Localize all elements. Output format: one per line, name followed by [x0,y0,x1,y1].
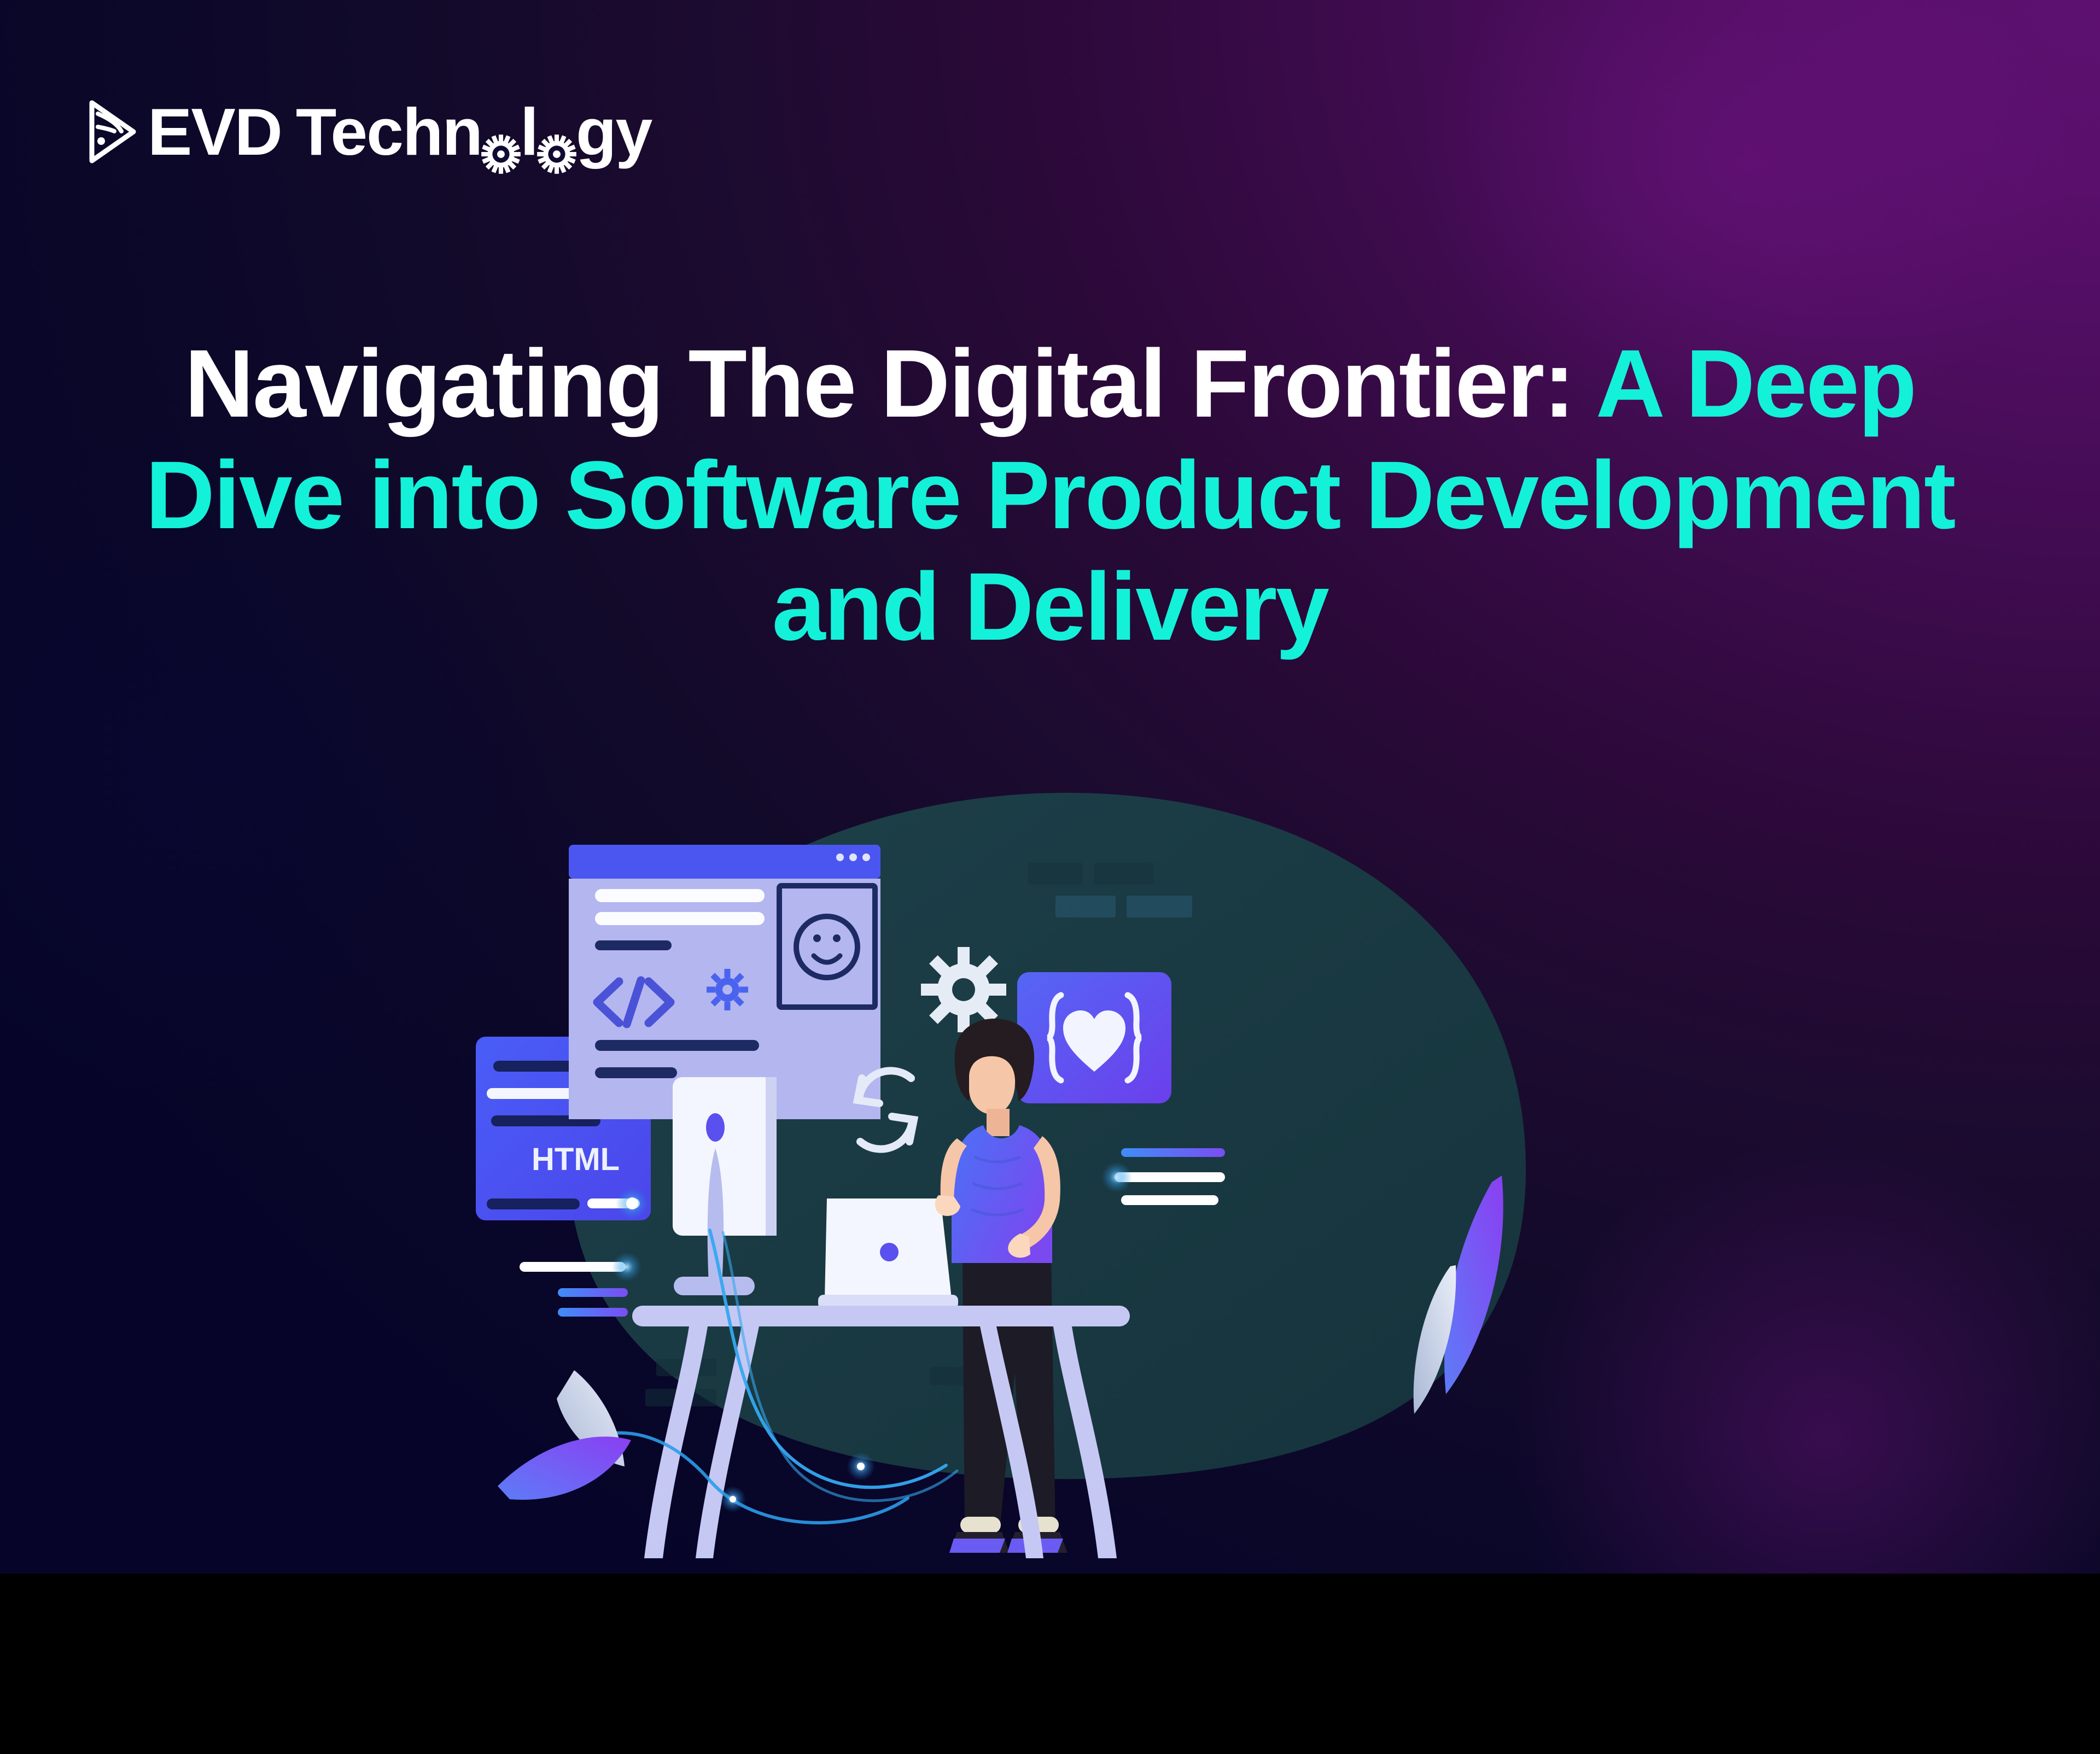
headline-line1-white: Navigating The Digital Frontier: [184,330,1574,437]
html-card-label: HTML [532,1142,620,1177]
brand-name-l: l [520,98,538,165]
brand-wordmark: EVD Techn [148,98,651,165]
footer-bar [0,1574,2100,1754]
brand-name-techn: Techn [296,98,482,165]
page-title: Navigating The Digital Frontier: A Deep … [77,328,2023,663]
headline-line1-accent: A Deep [1596,330,1916,437]
decorative-leaf-left [498,1370,631,1500]
gear-icon [707,969,748,1010]
software-development-illustration: HTML [470,771,1662,1580]
brand-name-gy: gy [576,98,651,165]
brand-name-evd: EVD [148,98,282,165]
headline-line2: Dive into Software Product Development [145,442,1955,549]
curly-braces-heart-icon [1017,972,1171,1103]
gear-icon [536,118,577,159]
gear-icon [481,118,521,159]
headline-line3: and Delivery [772,553,1328,660]
laptop-icon [818,1198,958,1309]
poster-root: EVD Techn [0,0,2100,1754]
brand-logo[interactable]: EVD Techn [87,98,651,165]
play-wifi-logo-icon [87,100,138,164]
